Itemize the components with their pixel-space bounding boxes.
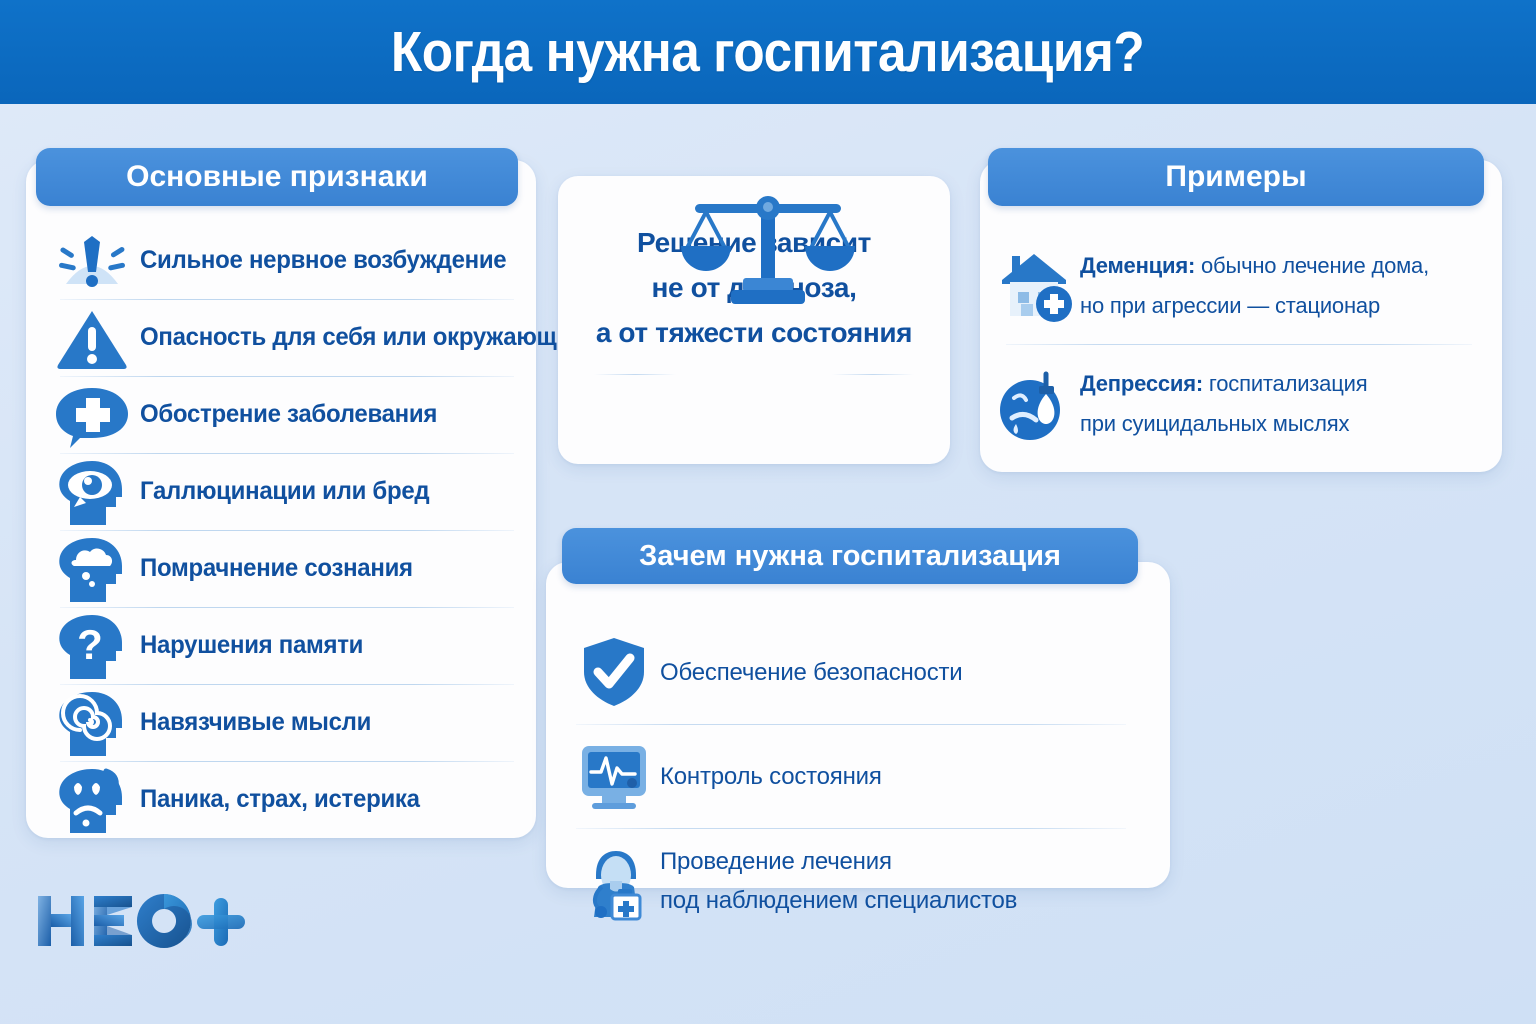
head-question-icon: ? bbox=[44, 611, 140, 681]
list-item-label: Обострение заболевания bbox=[140, 400, 437, 429]
decision-line-3: а от тяжести состояния bbox=[558, 310, 950, 355]
example-label: Депрессия: bbox=[1080, 371, 1203, 396]
example-label: Деменция: bbox=[1080, 253, 1195, 278]
main-signs-title: Основные признаки bbox=[126, 160, 428, 194]
examples-title-badge: Примеры bbox=[988, 148, 1484, 206]
list-item[interactable]: Опасность для себя или окружающих bbox=[26, 299, 536, 376]
shield-check-icon bbox=[574, 634, 660, 710]
head-cloud-icon bbox=[44, 534, 140, 604]
main-signs-card: Сильное нервное возбуждение Опасность дл… bbox=[26, 160, 536, 838]
list-item[interactable]: Паника, страх, истерика bbox=[26, 761, 536, 838]
list-item-label: Нарушения памяти bbox=[140, 631, 363, 660]
brand-logo bbox=[36, 890, 246, 952]
list-item[interactable]: Навязчивые мысли bbox=[26, 684, 536, 761]
main-signs-list: Сильное нервное возбуждение Опасность дл… bbox=[26, 222, 536, 838]
why-line-1: Проведение лечения bbox=[660, 842, 1017, 881]
examples-list: Деменция: обычно лечение дома, но при аг… bbox=[980, 226, 1502, 462]
why-hospitalization-title: Зачем нужна госпитализация bbox=[639, 540, 1061, 573]
head-sad-face-icon bbox=[44, 765, 140, 835]
list-item[interactable]: ? Нарушения памяти bbox=[26, 607, 536, 684]
ecg-monitor-icon bbox=[574, 738, 660, 814]
warning-triangle-icon bbox=[44, 303, 140, 373]
example-line-2: при суицидальных мыслях bbox=[1080, 404, 1367, 444]
main-signs-title-badge: Основные признаки bbox=[36, 148, 518, 206]
list-item-label: Паника, страх, истерика bbox=[140, 785, 420, 814]
why-hospitalization-list: Обеспечение безопасности Контроль состоя… bbox=[546, 620, 1170, 934]
why-hospitalization-title-badge: Зачем нужна госпитализация bbox=[562, 528, 1138, 584]
examples-title: Примеры bbox=[1165, 160, 1306, 194]
exclamation-burst-icon bbox=[44, 226, 140, 296]
list-item-label: Помрачнение сознания bbox=[140, 554, 413, 583]
list-item[interactable]: Обострение заболевания bbox=[26, 376, 536, 453]
head-eye-icon bbox=[44, 457, 140, 527]
list-item[interactable]: Помрачнение сознания bbox=[26, 530, 536, 607]
list-item[interactable]: Проведение лечения под наблюдением специ… bbox=[546, 828, 1170, 934]
why-line-1: Обеспечение безопасности bbox=[660, 653, 963, 692]
why-line-2: под наблюдением специалистов bbox=[660, 881, 1017, 920]
examples-card: Деменция: обычно лечение дома, но при аг… bbox=[980, 160, 1502, 472]
balance-scale-icon bbox=[663, 186, 873, 306]
speech-bubble-cross-icon bbox=[44, 380, 140, 450]
list-item-label: Сильное нервное возбуждение bbox=[140, 246, 506, 275]
list-item-label: Опасность для себя или окружающих bbox=[140, 323, 584, 352]
sad-face-noose-icon bbox=[994, 362, 1080, 444]
example-line-1: обычно лечение дома, bbox=[1195, 253, 1429, 278]
page-header: Когда нужна госпитализация? bbox=[0, 0, 1536, 104]
list-item-label: Галлюцинации или бред bbox=[140, 477, 429, 506]
page-title: Когда нужна госпитализация? bbox=[391, 19, 1144, 85]
list-item[interactable]: Депрессия: госпитализация при суицидальн… bbox=[980, 344, 1502, 462]
why-text: Проведение лечения под наблюдением специ… bbox=[660, 842, 1017, 920]
why-text: Обеспечение безопасности bbox=[660, 653, 963, 692]
why-hospitalization-card: Обеспечение безопасности Контроль состоя… bbox=[546, 562, 1170, 888]
why-text: Контроль состояния bbox=[660, 757, 882, 796]
example-text: Деменция: обычно лечение дома, но при аг… bbox=[1080, 244, 1429, 326]
decision-divider-left bbox=[594, 374, 676, 375]
house-medical-cross-icon bbox=[994, 244, 1080, 326]
head-spiral-icon bbox=[44, 688, 140, 758]
list-item[interactable]: Контроль состояния bbox=[546, 724, 1170, 828]
why-line-1: Контроль состояния bbox=[660, 757, 882, 796]
list-item-label: Навязчивые мысли bbox=[140, 708, 371, 737]
decision-divider-right bbox=[832, 374, 914, 375]
example-text: Депрессия: госпитализация при суицидальн… bbox=[1080, 362, 1367, 444]
list-item[interactable]: Обеспечение безопасности bbox=[546, 620, 1170, 724]
example-line-2: но при агрессии — стационар bbox=[1080, 286, 1429, 326]
list-item[interactable]: Сильное нервное возбуждение bbox=[26, 222, 536, 299]
svg-text:?: ? bbox=[77, 621, 103, 668]
list-item[interactable]: Галлюцинации или бред bbox=[26, 453, 536, 530]
list-item[interactable]: Деменция: обычно лечение дома, но при аг… bbox=[980, 226, 1502, 344]
doctor-medical-bag-icon bbox=[574, 843, 660, 919]
example-line-1: госпитализация bbox=[1203, 371, 1367, 396]
